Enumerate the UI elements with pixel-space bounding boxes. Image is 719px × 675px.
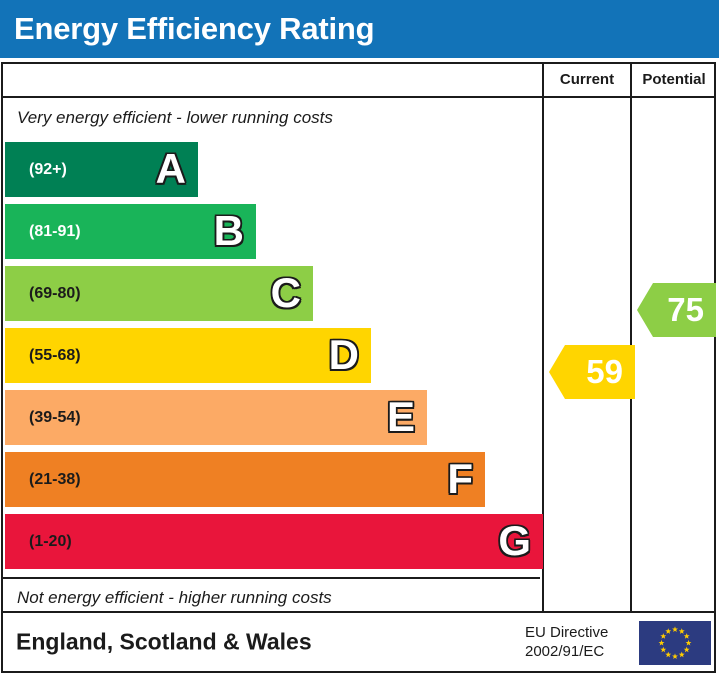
band-range-b: (81-91) bbox=[29, 223, 81, 241]
band-d: (55-68)D bbox=[5, 328, 371, 383]
directive-line-2: 2002/91/EC bbox=[525, 642, 608, 661]
chart-title-bar: Energy Efficiency Rating bbox=[0, 0, 719, 58]
band-range-e: (39-54) bbox=[29, 409, 81, 427]
page-title: Energy Efficiency Rating bbox=[14, 11, 374, 47]
footer-region-label: England, Scotland & Wales bbox=[16, 629, 312, 656]
band-range-a: (92+) bbox=[29, 161, 67, 179]
column-divider-potential bbox=[630, 64, 632, 611]
band-letter-d: D bbox=[329, 334, 359, 376]
epc-certificate-chart: Energy Efficiency Rating Current Potenti… bbox=[0, 0, 719, 675]
caption-efficient: Very energy efficient - lower running co… bbox=[17, 108, 333, 128]
band-range-f: (21-38) bbox=[29, 471, 81, 489]
band-letter-b: B bbox=[214, 210, 244, 252]
band-letter-e: E bbox=[387, 396, 415, 438]
band-c: (69-80)C bbox=[5, 266, 313, 321]
current-rating-marker: 59 bbox=[549, 345, 635, 399]
band-letter-g: G bbox=[498, 520, 531, 562]
bands-bottom-rule bbox=[3, 577, 540, 579]
band-letter-c: C bbox=[271, 272, 301, 314]
footer-directive-label: EU Directive 2002/91/EC bbox=[525, 623, 608, 661]
band-letter-f: F bbox=[447, 458, 473, 500]
directive-line-1: EU Directive bbox=[525, 623, 608, 642]
potential-rating-marker: 75 bbox=[637, 283, 716, 337]
band-range-d: (55-68) bbox=[29, 347, 81, 365]
band-a: (92+)A bbox=[5, 142, 198, 197]
band-e: (39-54)E bbox=[5, 390, 427, 445]
rating-table: Current Potential Very energy efficient … bbox=[1, 62, 716, 613]
caption-inefficient: Not energy efficient - higher running co… bbox=[17, 588, 332, 608]
band-g: (1-20)G bbox=[5, 514, 543, 569]
band-f: (21-38)F bbox=[5, 452, 485, 507]
band-range-g: (1-20) bbox=[29, 533, 72, 551]
footer-bar: England, Scotland & Wales EU Directive 2… bbox=[1, 613, 716, 673]
band-range-c: (69-80) bbox=[29, 285, 81, 303]
band-letter-a: A bbox=[156, 148, 186, 190]
eu-flag-icon bbox=[639, 621, 711, 665]
band-b: (81-91)B bbox=[5, 204, 256, 259]
column-header-potential: Potential bbox=[632, 64, 716, 96]
column-header-current: Current bbox=[544, 64, 630, 96]
